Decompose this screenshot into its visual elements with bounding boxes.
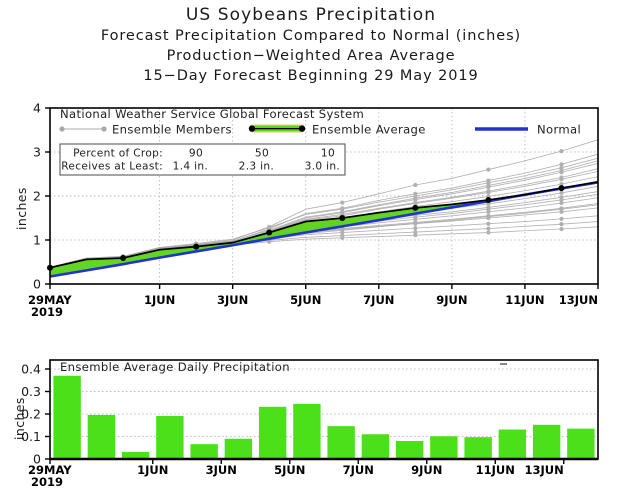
svg-text:2019: 2019 (31, 475, 63, 488)
ensemble-member-dot (486, 189, 490, 193)
ensemble-member-dot (486, 183, 490, 187)
daily-precip-bar (293, 404, 320, 459)
chart-page: US Soybeans Precipitation Forecast Preci… (0, 0, 622, 488)
ensemble-member-dot (267, 240, 271, 244)
ensemble-member-dot (486, 230, 490, 234)
svg-text:7JUN: 7JUN (363, 293, 394, 307)
ensemble-member-dot (413, 183, 417, 187)
svg-text:3JUN: 3JUN (206, 463, 237, 477)
svg-text:1JUN: 1JUN (137, 463, 168, 477)
daily-precipitation-panel: 00.10.20.30.429MAY20191JUN3JUN5JUN7JUN9J… (21, 360, 598, 488)
daily-precip-bar (225, 439, 252, 459)
ensemble-member-dot (559, 206, 563, 210)
svg-text:Ensemble Members: Ensemble Members (112, 123, 232, 137)
ensemble-average-point (412, 205, 418, 211)
ensemble-member-dot (559, 217, 563, 221)
ensemble-member-dot (559, 222, 563, 226)
svg-text:9JUN: 9JUN (411, 463, 442, 477)
ensemble-member-dot (559, 198, 563, 202)
daily-precip-bar (464, 437, 491, 459)
svg-text:4: 4 (33, 101, 41, 116)
svg-text:Percent of Crop:: Percent of Crop: (73, 148, 163, 160)
svg-text:0.1: 0.1 (21, 429, 41, 444)
daily-precip-bar (88, 415, 115, 459)
daily-precip-bar (53, 376, 80, 459)
daily-precip-bar (499, 430, 526, 459)
ensemble-member-dot (413, 226, 417, 230)
ensemble-member-dot (486, 222, 490, 226)
legend-dot (249, 125, 255, 131)
ensemble-member-dot (486, 226, 490, 230)
ensemble-member-dot (486, 207, 490, 211)
chart-canvas: 0123429MAY20191JUN3JUN5JUN7JUN9JUN11JUN1… (0, 0, 622, 488)
svg-text:0.3: 0.3 (21, 384, 41, 399)
ensemble-member-dot (413, 215, 417, 219)
ensemble-member-dot (559, 149, 563, 153)
ensemble-member-dot (340, 201, 344, 205)
svg-text:13JUN: 13JUN (525, 463, 564, 477)
svg-text:2: 2 (33, 189, 41, 204)
ensemble-average-point (266, 230, 272, 236)
ensemble-member-dot (559, 227, 563, 231)
ensemble-average-point (193, 244, 199, 250)
svg-text:0.2: 0.2 (21, 407, 41, 422)
daily-precip-bar (362, 434, 389, 459)
cumulative-precipitation-panel: 0123429MAY20191JUN3JUN5JUN7JUN9JUN11JUN1… (28, 101, 598, 320)
svg-text:5JUN: 5JUN (274, 463, 305, 477)
svg-text:50: 50 (255, 148, 269, 160)
ensemble-average-point (120, 255, 126, 261)
ensemble-average-point (485, 197, 491, 203)
svg-text:13JUN: 13JUN (559, 293, 598, 307)
svg-text:Ensemble Average: Ensemble Average (312, 123, 426, 137)
svg-text:2.3 in.: 2.3 in. (239, 161, 274, 173)
daily-precip-bar (259, 407, 286, 459)
svg-text:10: 10 (321, 148, 335, 160)
svg-text:0.4: 0.4 (21, 362, 41, 377)
daily-precip-bar (567, 429, 594, 459)
ensemble-member-dot (486, 214, 490, 218)
svg-text:0: 0 (33, 277, 41, 292)
daily-precip-bar (156, 416, 183, 459)
ensemble-member-dot (413, 220, 417, 224)
svg-text:7JUN: 7JUN (343, 463, 374, 477)
svg-text:1JUN: 1JUN (144, 293, 175, 307)
svg-text:2019: 2019 (31, 305, 63, 319)
svg-text:National Weather Service Globa: National Weather Service Global Forecast… (60, 107, 364, 121)
ensemble-member-dot (559, 191, 563, 195)
daily-precip-bar (190, 444, 217, 459)
legend: National Weather Service Global Forecast… (59, 107, 581, 137)
svg-text:1: 1 (33, 233, 41, 248)
daily-precip-bar (327, 426, 354, 459)
svg-text:1.4 in.: 1.4 in. (173, 161, 208, 173)
ensemble-member-dot (486, 168, 490, 172)
ensemble-member-dot (340, 236, 344, 240)
crop-percent-table: Percent of Crop:Receives at Least:905010… (60, 144, 345, 175)
daily-precip-bar (533, 425, 560, 459)
daily-precip-bar (396, 441, 423, 459)
ensemble-member-dot (413, 201, 417, 205)
svg-text:11JUN: 11JUN (505, 293, 544, 307)
ensemble-member-dot (413, 233, 417, 237)
bottom-panel-title: Ensemble Average Daily Precipitation (60, 360, 290, 374)
ensemble-member-dot (559, 168, 563, 172)
legend-dot (59, 126, 64, 131)
svg-text:3: 3 (33, 145, 41, 160)
svg-text:Normal: Normal (537, 123, 581, 137)
ensemble-member-dot (559, 175, 563, 179)
svg-text:90: 90 (189, 148, 203, 160)
svg-text:11JUN: 11JUN (476, 463, 515, 477)
svg-text:Receives at Least:: Receives at Least: (61, 161, 163, 173)
legend-dot (299, 125, 305, 131)
svg-text:3.0 in.: 3.0 in. (305, 161, 340, 173)
svg-text:9JUN: 9JUN (436, 293, 467, 307)
svg-text:5JUN: 5JUN (290, 293, 321, 307)
legend-dot (101, 126, 106, 131)
ensemble-average-point (339, 215, 345, 221)
daily-precip-bar (430, 436, 457, 459)
ensemble-average-point (558, 185, 564, 191)
ensemble-member-dot (413, 196, 417, 200)
svg-text:3JUN: 3JUN (217, 293, 248, 307)
